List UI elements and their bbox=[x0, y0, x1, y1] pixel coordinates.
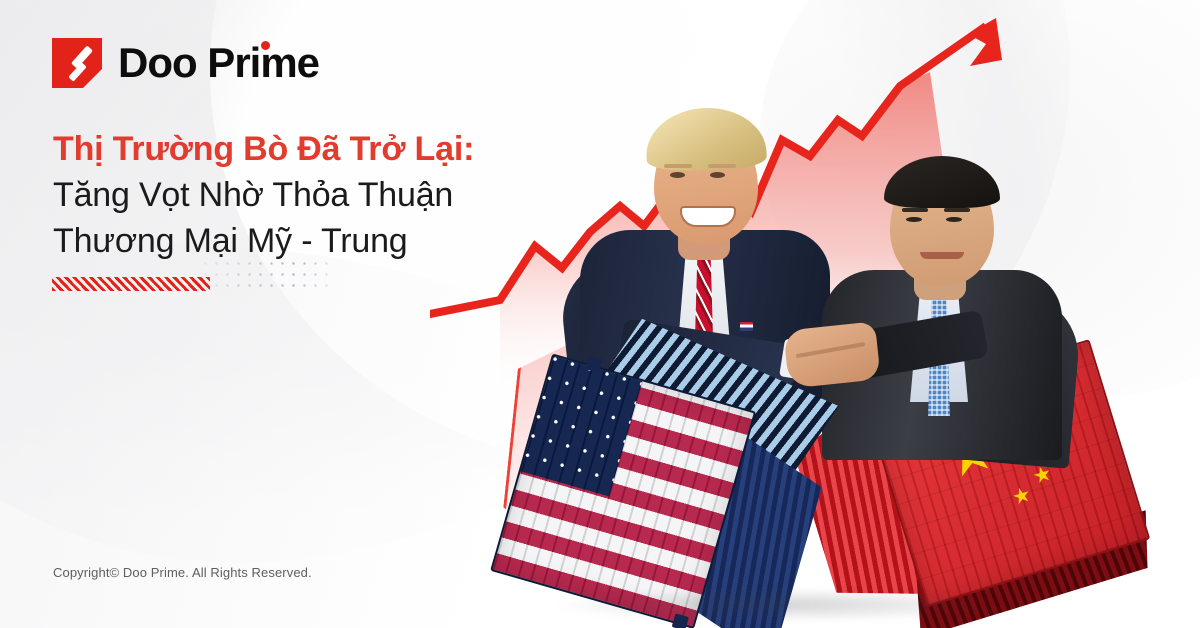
ground-shadow bbox=[550, 588, 1020, 622]
artwork-stage: ★ ★ ★ ★ ★ bbox=[430, 0, 1200, 628]
brand-logo[interactable]: Doo Prime bbox=[52, 38, 319, 88]
xi-eye-right bbox=[946, 217, 962, 222]
red-stripe-bar-decoration bbox=[52, 277, 210, 291]
xi-hair bbox=[884, 156, 1000, 208]
trump-brow-left bbox=[664, 164, 692, 168]
xi-eye-left bbox=[906, 217, 922, 222]
xi-mouth bbox=[920, 252, 964, 259]
doo-prime-logo-mark-icon bbox=[52, 38, 102, 88]
trump-smile bbox=[680, 206, 736, 227]
trump-eye-left bbox=[670, 172, 685, 178]
trump-hair bbox=[645, 106, 767, 172]
marketing-banner: Doo Prime Thị Trường Bò Đã Trở Lại: Tăng… bbox=[0, 0, 1200, 628]
china-flag-star-4: ★ bbox=[1010, 483, 1034, 509]
trump-brow-right bbox=[708, 164, 736, 168]
xi-brow-right bbox=[944, 208, 970, 212]
logo-nib-lower bbox=[68, 62, 87, 82]
chart-arrow-head-icon bbox=[968, 18, 1002, 66]
xi-brow-left bbox=[902, 208, 928, 212]
logo-red-dot-icon bbox=[261, 41, 270, 50]
dot-grid-decoration bbox=[200, 258, 330, 288]
trump-eye-right bbox=[710, 172, 725, 178]
brand-wordmark: Doo Prime bbox=[118, 42, 319, 84]
copyright-text: Copyright© Doo Prime. All Rights Reserve… bbox=[53, 565, 312, 580]
brand-name-text: Doo Prime bbox=[118, 39, 319, 86]
